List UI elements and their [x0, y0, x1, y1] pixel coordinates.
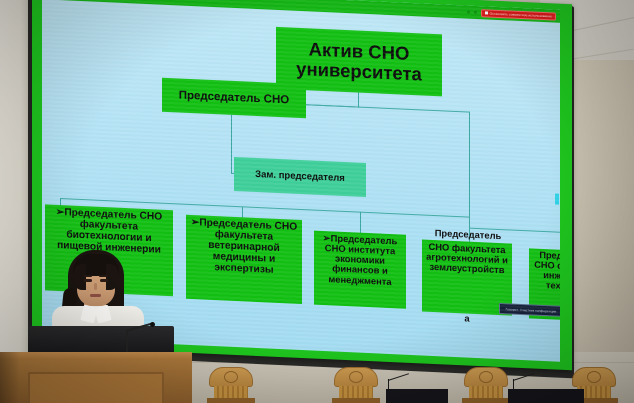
podium-top-edge [0, 352, 192, 360]
chair-seat [207, 398, 255, 403]
cursor-mark-icon [555, 194, 559, 205]
chair-seat [332, 398, 380, 403]
chair-medallion [479, 371, 493, 383]
node-deputy-label: Зам. председателя [234, 169, 366, 185]
speaker-toast-label: Говорит: Участник конференции [506, 307, 557, 313]
node-institute-economics-label: ➢Председатель СНО института экономики фи… [314, 233, 406, 288]
connector-chair-right [306, 104, 470, 113]
chair-3 [460, 367, 512, 403]
presenter-mouth [90, 294, 101, 297]
stop-share-button[interactable]: Остановить совместное использование [481, 9, 556, 20]
chair-2 [330, 367, 382, 403]
presenter-nose [94, 283, 97, 290]
presenter-brow-left [83, 275, 92, 277]
podium-shadow [0, 352, 20, 403]
chair-medallion [224, 371, 238, 383]
node-chairman-label: Председатель СНО [162, 88, 306, 107]
presenter-eye-right [100, 279, 108, 282]
node-title-label: Актив СНО университета [280, 38, 438, 85]
node-faculty-veterinary: ➢Председатель СНО факультета ветеринарно… [186, 215, 302, 304]
podium-front-panel [28, 372, 164, 403]
toolbar-dot-2 [474, 11, 477, 14]
chair-seat [462, 398, 510, 403]
chair-medallion [349, 371, 363, 383]
audience-desk-1 [386, 389, 448, 403]
stop-share-label: Остановить совместное использование [490, 11, 552, 18]
node-faculty-agrotech-label: СНО факультета агротехнологий и землеуст… [422, 241, 512, 276]
node-faculty-veterinary-label: ➢Председатель СНО факультета ветеринарно… [186, 217, 302, 277]
connector-chair-to-deputy [231, 115, 232, 174]
node-chairman: Председатель СНО [162, 78, 306, 119]
presenter-hair-right [106, 264, 118, 290]
node-deputy: Зам. председателя [234, 157, 366, 197]
desk-microphone-head [150, 322, 155, 327]
audience-desk-2 [508, 389, 584, 403]
connector-trunk [469, 112, 470, 218]
connector-leaf3-drop [360, 212, 361, 234]
presenter-eye-left [84, 279, 92, 282]
node-faculty-engineering-label: Председатель СНО факультета инженерных т… [529, 250, 560, 294]
lecture-hall-scene: Вы сейчас ведете демонстрацию экрана Ост… [0, 0, 634, 403]
presenter-brow-right [99, 275, 108, 277]
chair-medallion [587, 371, 601, 383]
chair-1 [205, 367, 257, 403]
connector-title-down [358, 93, 359, 108]
toolbar-dot-1 [467, 11, 470, 14]
stop-record-icon [485, 11, 488, 14]
presenter-hair-left [74, 264, 86, 290]
node-institute-economics: ➢Председатель СНО института экономики фи… [314, 231, 406, 309]
